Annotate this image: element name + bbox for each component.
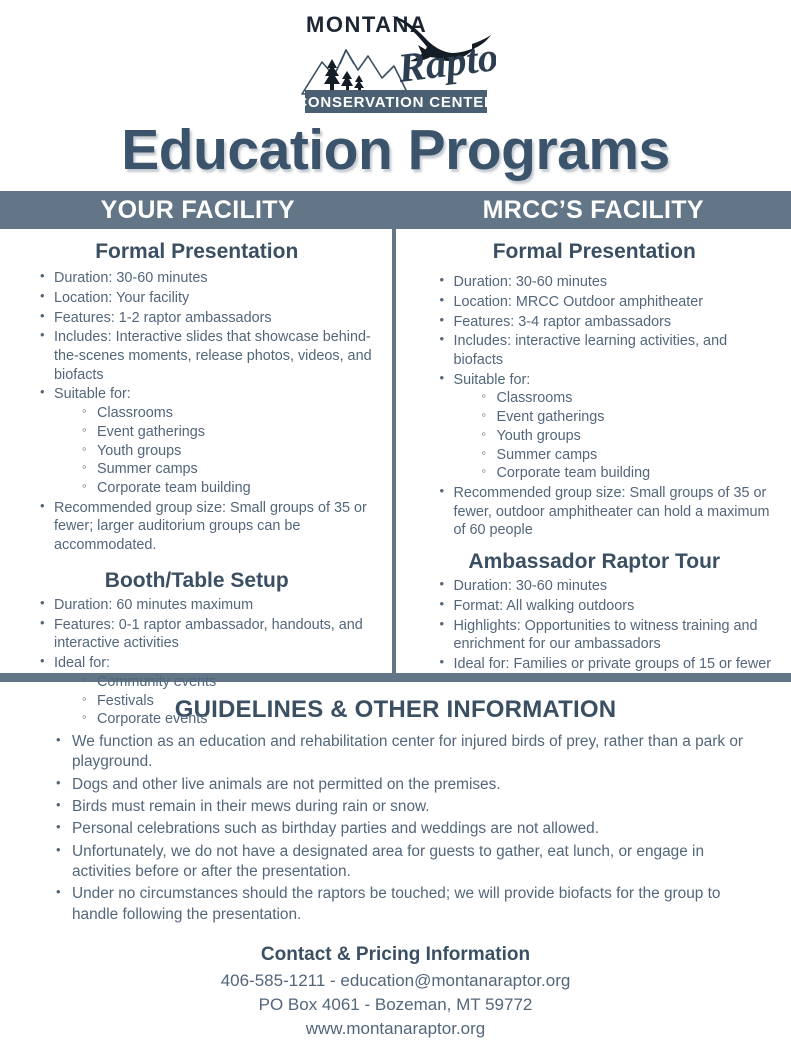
- sublist-item: Event gatherings: [82, 423, 382, 442]
- sublist-item: Festivals: [82, 692, 382, 711]
- list-item: Duration: 30-60 minutes: [440, 577, 778, 596]
- list-item-text: Recommended group size: Small groups of …: [454, 485, 770, 538]
- list-item: Duration: 60 minutes maximum: [40, 596, 382, 615]
- list-item-text: Unfortunately, we do not have a designat…: [72, 843, 704, 880]
- list-item-text: Duration: 30-60 minutes: [454, 274, 608, 290]
- sublist-item-text: Summer camps: [497, 447, 598, 463]
- facility-band: YOUR FACILITY MRCC’S FACILITY: [0, 191, 791, 229]
- contact-phone-email: 406-585-1211 - education@montanaraptor.o…: [26, 969, 765, 993]
- page-title: Education Programs: [0, 118, 791, 191]
- section-heading-booth-table-setup: Booth/Table Setup: [12, 569, 382, 592]
- sublist-item-text: Summer camps: [97, 461, 198, 477]
- two-column-section: Formal Presentation Duration: 30-60 minu…: [0, 229, 791, 682]
- list-item: Includes: interactive learning activitie…: [440, 332, 778, 369]
- sublist-suitable-for-right: Classrooms Event gatherings Youth groups…: [454, 389, 778, 483]
- list-item: Duration: 30-60 minutes: [440, 273, 778, 292]
- list-item: Features: 0-1 raptor ambassador, handout…: [40, 616, 382, 653]
- list-item-text: Ideal for:: [54, 655, 110, 671]
- section-heading-ambassador-raptor-tour: Ambassador Raptor Tour: [412, 550, 778, 573]
- sublist-item: Youth groups: [482, 427, 778, 446]
- column-your-facility: Formal Presentation Duration: 30-60 minu…: [0, 229, 396, 673]
- sublist-ideal-for-left: Community events Festivals Corporate eve…: [54, 673, 382, 729]
- list-item-text: Suitable for:: [54, 386, 131, 402]
- sublist-item: Summer camps: [82, 460, 382, 479]
- list-item: We function as an education and rehabili…: [56, 732, 765, 773]
- list-item-text: Features: 1-2 raptor ambassadors: [54, 310, 272, 326]
- list-item-text: Features: 0-1 raptor ambassador, handout…: [54, 617, 363, 652]
- sublist-item: Event gatherings: [482, 408, 778, 427]
- list-item: Ideal for: Families or private groups of…: [440, 655, 778, 674]
- sublist-suitable-for-left: Classrooms Event gatherings Youth groups…: [54, 404, 382, 498]
- list-item: Dogs and other live animals are not perm…: [56, 775, 765, 795]
- list-item: Highlights: Opportunities to witness tra…: [440, 617, 778, 654]
- sublist-item-text: Community events: [97, 674, 216, 690]
- list-item-text: Includes: interactive learning activitie…: [454, 333, 728, 368]
- sublist-item: Classrooms: [82, 404, 382, 423]
- sublist-item: Corporate team building: [482, 464, 778, 483]
- list-item-text: Dogs and other live animals are not perm…: [72, 776, 501, 793]
- list-item: Duration: 30-60 minutes: [40, 269, 382, 288]
- list-item: Suitable for: Classrooms Event gathering…: [40, 385, 382, 497]
- list-item: Recommended group size: Small groups of …: [440, 484, 778, 540]
- list-item-text: Ideal for: Families or private groups of…: [454, 656, 772, 672]
- list-item: Includes: Interactive slides that showca…: [40, 328, 382, 384]
- list-item: Recommended group size: Small groups of …: [40, 499, 382, 555]
- sublist-item: Summer camps: [482, 446, 778, 465]
- logo-raptor-script: Raptor: [394, 31, 496, 91]
- logo-banner-text: CONSERVATION CENTER: [296, 94, 495, 111]
- contact-website: www.montanaraptor.org: [26, 1017, 765, 1041]
- column-mrcc-facility: Formal Presentation Duration: 30-60 minu…: [396, 229, 791, 673]
- sublist-item-text: Corporate team building: [497, 465, 651, 481]
- list-item-text: Format: All walking outdoors: [454, 598, 635, 614]
- list-item: Location: Your facility: [40, 289, 382, 308]
- list-item: Birds must remain in their mews during r…: [56, 797, 765, 817]
- sublist-item: Community events: [82, 673, 382, 692]
- sublist-item: Corporate team building: [82, 479, 382, 498]
- facility-header-mrcc: MRCC’S FACILITY: [396, 198, 791, 223]
- list-item: Ideal for: Community events Festivals Co…: [40, 654, 382, 729]
- list-item-text: Location: MRCC Outdoor amphitheater: [454, 294, 704, 310]
- sublist-item: Classrooms: [482, 389, 778, 408]
- list-item-text: Birds must remain in their mews during r…: [72, 798, 430, 815]
- list-item: Personal celebrations such as birthday p…: [56, 819, 765, 839]
- sublist-item-text: Festivals: [97, 693, 154, 709]
- list-booth-table-setup: Duration: 60 minutes maximum Features: 0…: [12, 596, 382, 729]
- contact-section: Contact & Pricing Information 406-585-12…: [26, 944, 765, 1041]
- list-item-text: Recommended group size: Small groups of …: [54, 500, 367, 553]
- guidelines-section: GUIDELINES & OTHER INFORMATION We functi…: [0, 682, 791, 1041]
- logo-header: MONTANA Raptor CONSERVATION CENT: [0, 0, 791, 118]
- list-item-text: Includes: Interactive slides that showca…: [54, 329, 372, 382]
- list-item-text: We function as an education and rehabili…: [72, 733, 743, 770]
- sublist-item-text: Youth groups: [497, 428, 581, 444]
- list-item-text: Location: Your facility: [54, 290, 189, 306]
- list-item-text: Under no circumstances should the raptor…: [72, 885, 720, 922]
- list-item-text: Duration: 30-60 minutes: [454, 578, 608, 594]
- list-item: Features: 1-2 raptor ambassadors: [40, 309, 382, 328]
- guidelines-list: We function as an education and rehabili…: [26, 732, 765, 925]
- list-formal-presentation-left: Duration: 30-60 minutes Location: Your f…: [12, 269, 382, 555]
- sublist-item-text: Classrooms: [497, 390, 573, 406]
- list-item-text: Features: 3-4 raptor ambassadors: [454, 314, 672, 330]
- contact-address: PO Box 4061 - Bozeman, MT 59772: [26, 993, 765, 1017]
- sublist-item-text: Youth groups: [97, 443, 181, 459]
- list-item-text: Personal celebrations such as birthday p…: [72, 820, 599, 837]
- sublist-item: Corporate events: [82, 710, 382, 729]
- list-item-text: Suitable for:: [454, 372, 531, 388]
- list-item: Features: 3-4 raptor ambassadors: [440, 313, 778, 332]
- sublist-item-text: Classrooms: [97, 405, 173, 421]
- list-ambassador-raptor-tour: Duration: 30-60 minutes Format: All walk…: [412, 577, 778, 674]
- list-item: Under no circumstances should the raptor…: [56, 884, 765, 925]
- sublist-item: Youth groups: [82, 442, 382, 461]
- sublist-item-text: Event gatherings: [97, 424, 205, 440]
- pine-tree-icon: [324, 59, 364, 94]
- list-item: Suitable for: Classrooms Event gathering…: [440, 371, 778, 483]
- section-heading-formal-presentation: Formal Presentation: [12, 240, 382, 263]
- list-item-text: Highlights: Opportunities to witness tra…: [454, 618, 758, 653]
- sublist-item-text: Corporate events: [97, 711, 207, 727]
- mrcc-logo: MONTANA Raptor CONSERVATION CENT: [296, 4, 496, 116]
- list-formal-presentation-right: Duration: 30-60 minutes Location: MRCC O…: [412, 273, 778, 540]
- facility-header-your: YOUR FACILITY: [0, 198, 396, 223]
- list-item: Unfortunately, we do not have a designat…: [56, 842, 765, 883]
- contact-heading: Contact & Pricing Information: [26, 944, 765, 966]
- sublist-item-text: Corporate team building: [97, 480, 251, 496]
- list-item: Location: MRCC Outdoor amphitheater: [440, 293, 778, 312]
- list-item-text: Duration: 60 minutes maximum: [54, 597, 253, 613]
- list-item: Format: All walking outdoors: [440, 597, 778, 616]
- list-item-text: Duration: 30-60 minutes: [54, 270, 208, 286]
- section-heading-formal-presentation-mrcc: Formal Presentation: [412, 240, 778, 263]
- sublist-item-text: Event gatherings: [497, 409, 605, 425]
